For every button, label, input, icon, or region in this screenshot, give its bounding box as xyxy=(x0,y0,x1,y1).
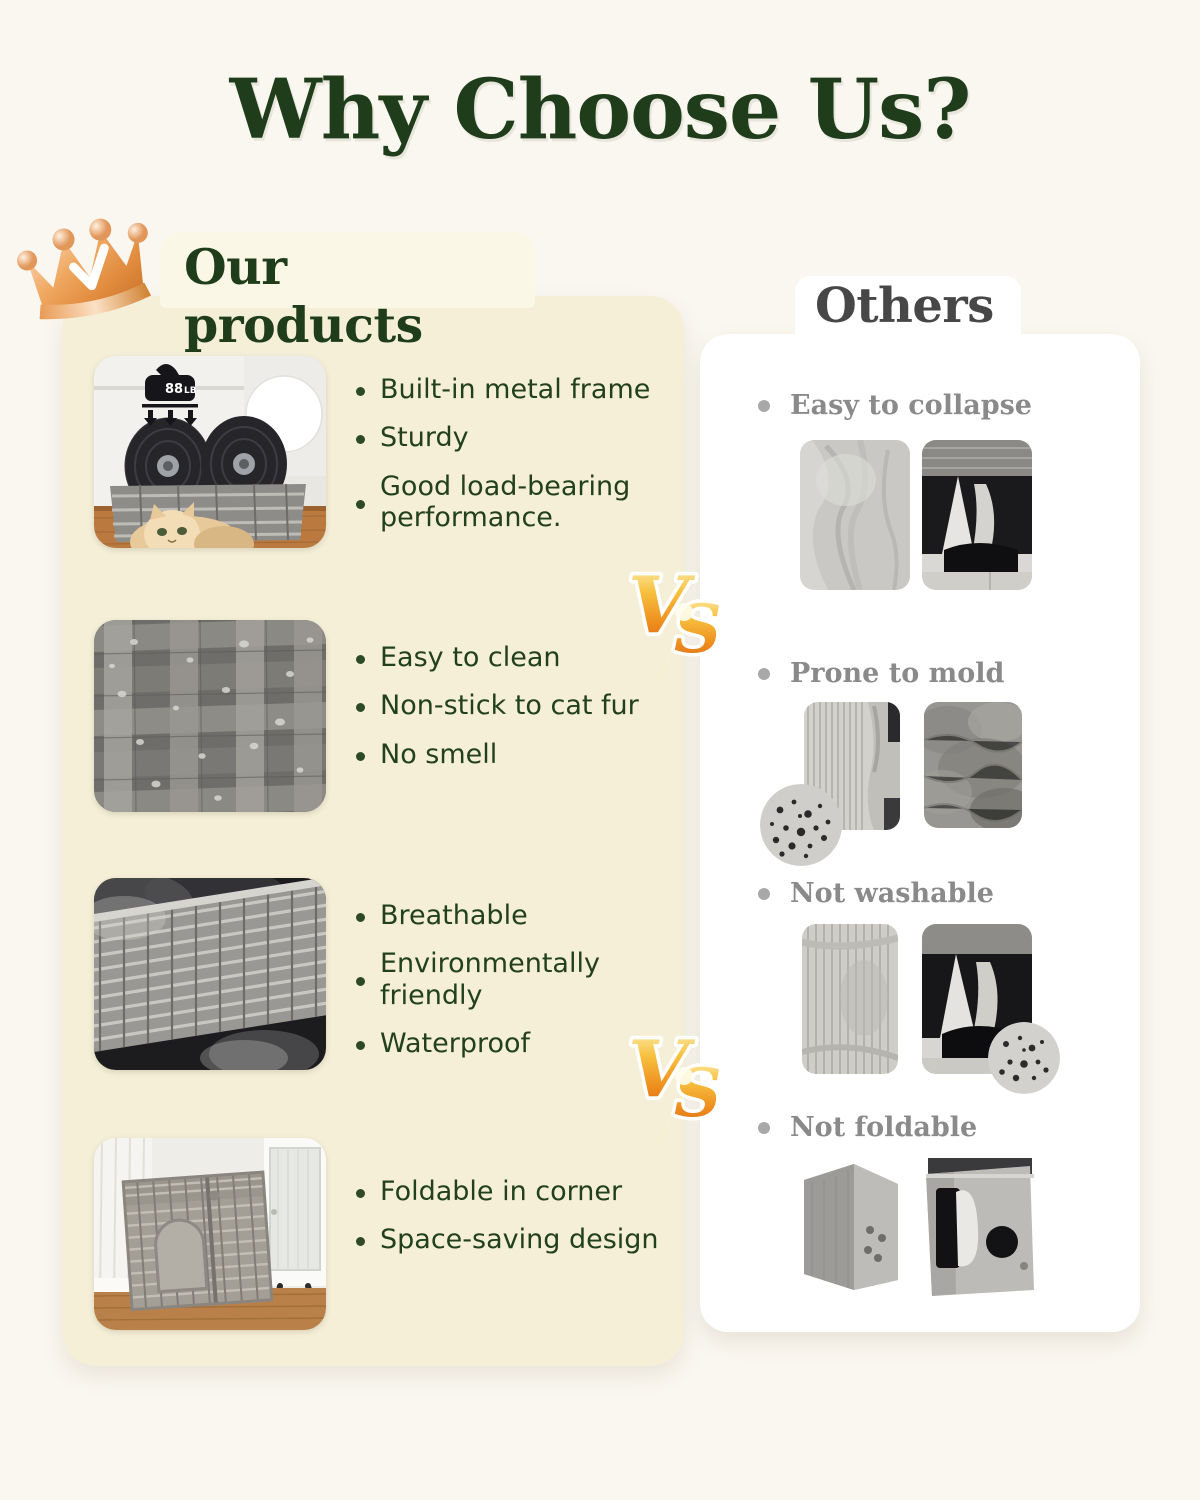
feature-label: Built-in metal frame xyxy=(380,374,650,405)
others-tab: Others xyxy=(795,276,1021,348)
crown-icon xyxy=(8,208,168,328)
feature-item: Sturdy xyxy=(356,422,680,453)
product-image-3 xyxy=(94,878,326,1070)
feature-label: Waterproof xyxy=(380,1028,530,1059)
feature-label: Sturdy xyxy=(380,422,469,453)
others-tab-label: Others xyxy=(815,278,994,334)
feature-label: Non-stick to cat fur xyxy=(380,690,639,721)
other-label: Prone to mold xyxy=(790,658,1004,689)
product-features-1: Built-in metal frame Sturdy Good load-be… xyxy=(356,374,680,550)
svg-text:LB: LB xyxy=(184,386,197,396)
other-row-label-1: Easy to collapse xyxy=(758,390,1032,421)
other-label: Easy to collapse xyxy=(790,390,1032,421)
product-features-2: Easy to clean Non-stick to cat fur No sm… xyxy=(356,642,639,787)
other-image-3a xyxy=(802,924,898,1074)
our-products-tab-label: Our products xyxy=(184,238,535,354)
feature-item: Space-saving design xyxy=(356,1224,659,1255)
other-image-1a xyxy=(800,440,910,590)
feature-label: Space-saving design xyxy=(380,1224,659,1255)
bullet-dot-icon xyxy=(356,1237,365,1246)
feature-label: Environmentally friendly xyxy=(380,948,630,1011)
svg-text:88: 88 xyxy=(165,382,183,397)
other-row-label-4: Not foldable xyxy=(758,1112,977,1143)
bullet-dot-icon xyxy=(356,977,365,986)
bullet-dot-icon xyxy=(356,1041,365,1050)
other-image-4a xyxy=(798,1158,904,1294)
other-row-label-2: Prone to mold xyxy=(758,658,1004,689)
feature-item: Waterproof xyxy=(356,1028,630,1059)
our-products-tab: Our products xyxy=(160,232,535,308)
page-title: Why Choose Us? xyxy=(0,62,1200,158)
product-image-2 xyxy=(94,620,326,812)
product-features-4: Foldable in corner Space-saving design xyxy=(356,1176,659,1273)
bullet-dot-icon xyxy=(758,1122,770,1134)
bullet-dot-icon xyxy=(356,435,365,444)
bullet-dot-icon xyxy=(758,668,770,680)
other-circle-3 xyxy=(988,1022,1060,1094)
other-image-4b xyxy=(920,1148,1040,1298)
product-image-1: 88 LB xyxy=(94,356,326,548)
feature-label: No smell xyxy=(380,739,497,770)
other-image-1b xyxy=(922,440,1032,590)
bullet-dot-icon xyxy=(356,387,365,396)
feature-item: Breathable xyxy=(356,900,630,931)
bullet-dot-icon xyxy=(758,400,770,412)
feature-item: Built-in metal frame xyxy=(356,374,680,405)
feature-label: Good load-bearing performance. xyxy=(380,471,680,534)
feature-item: Foldable in corner xyxy=(356,1176,659,1207)
other-row-label-3: Not washable xyxy=(758,878,994,909)
feature-label: Foldable in corner xyxy=(380,1176,622,1207)
bullet-dot-icon xyxy=(356,655,365,664)
vs-badge-bottom: V V S S xyxy=(622,992,742,1162)
bullet-dot-icon xyxy=(356,1189,365,1198)
feature-label: Breathable xyxy=(380,900,528,931)
feature-item: Non-stick to cat fur xyxy=(356,690,639,721)
feature-item: Good load-bearing performance. xyxy=(356,471,680,534)
feature-item: Environmentally friendly xyxy=(356,948,630,1011)
svg-text:S: S xyxy=(674,590,722,668)
product-image-4 xyxy=(94,1138,326,1330)
bullet-dot-icon xyxy=(356,913,365,922)
bullet-dot-icon xyxy=(758,888,770,900)
feature-item: No smell xyxy=(356,739,639,770)
bullet-dot-icon xyxy=(356,703,365,712)
vs-badge-top: V V S S xyxy=(622,528,742,698)
other-image-2b xyxy=(924,702,1022,828)
bullet-dot-icon xyxy=(356,752,365,761)
feature-item: Easy to clean xyxy=(356,642,639,673)
bullet-dot-icon xyxy=(356,500,365,509)
other-circle-2 xyxy=(760,784,842,866)
other-label: Not foldable xyxy=(790,1112,977,1143)
feature-label: Easy to clean xyxy=(380,642,561,673)
product-features-3: Breathable Environmentally friendly Wate… xyxy=(356,900,630,1076)
svg-text:S: S xyxy=(674,1054,722,1132)
other-label: Not washable xyxy=(790,878,994,909)
